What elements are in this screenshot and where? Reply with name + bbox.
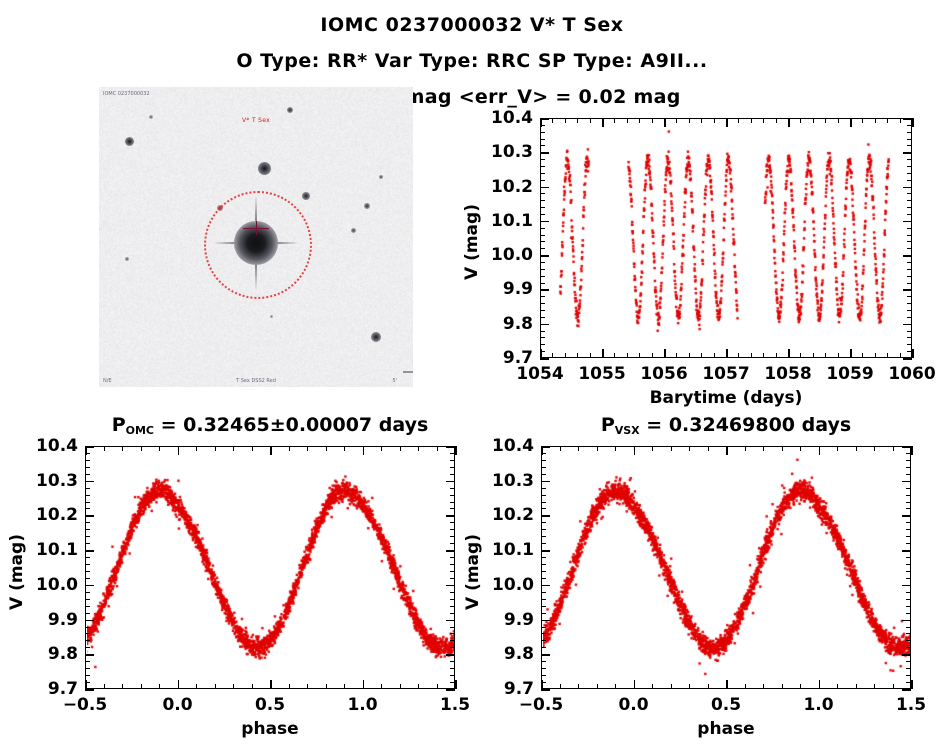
- axis-tick: [455, 680, 457, 689]
- target-label: V* T Sex: [242, 117, 270, 124]
- y-tick-label: 10.2: [23, 505, 78, 525]
- field-star: [351, 228, 356, 233]
- y-tick-label: 10.0: [479, 575, 534, 595]
- x-tick-label: 1.0: [779, 695, 859, 715]
- y-axis-title: V (mag): [7, 534, 27, 610]
- field-star: [302, 192, 310, 200]
- chart-meta-top-left: IOMC 0237000032: [103, 91, 150, 97]
- compass-icon: [399, 355, 413, 381]
- field-star: [125, 137, 134, 146]
- axis-tick: [903, 358, 912, 360]
- period-subscript: OMC: [126, 424, 154, 437]
- x-tick-label: −0.5: [501, 695, 581, 715]
- x-tick-label: 1058: [748, 364, 828, 384]
- period-symbol: P: [112, 414, 126, 436]
- object-type-line: O Type: RR* Var Type: RRC SP Type: A9II.…: [0, 50, 944, 72]
- x-tick-label: 0.5: [230, 695, 310, 715]
- y-tick-label: 9.7: [479, 679, 534, 699]
- x-tick-label: 1056: [624, 364, 704, 384]
- chart-meta-bottom-center: T Sex DSS2 Red: [236, 378, 276, 384]
- axis-tick: [912, 118, 914, 127]
- finding-chart[interactable]: V* T Sex IOMC 0237000032 N/E T Sex DSS2 …: [99, 87, 413, 387]
- phase-vsx-data-points: [543, 448, 910, 688]
- field-star: [364, 203, 370, 209]
- axis-tick: [85, 689, 94, 691]
- y-tick-label: 9.7: [478, 348, 533, 368]
- axis-tick: [541, 689, 550, 691]
- x-tick-label: −0.5: [45, 695, 125, 715]
- y-tick-label: 9.7: [23, 679, 78, 699]
- period-symbol: P: [601, 414, 615, 436]
- x-tick-label: 1.5: [871, 695, 944, 715]
- phase-vsx-plot-box[interactable]: [541, 446, 911, 689]
- y-tick-label: 9.9: [478, 279, 533, 299]
- y-tick-label: 9.8: [479, 644, 534, 664]
- y-tick-label: 10.4: [23, 436, 78, 456]
- x-tick-label: 1054: [500, 364, 580, 384]
- field-star: [270, 315, 273, 318]
- x-tick-label: 1.0: [323, 695, 403, 715]
- axis-tick: [455, 446, 457, 455]
- y-axis-title: V (mag): [463, 534, 483, 610]
- x-tick-label: 0.0: [594, 695, 674, 715]
- period-subscript: VSX: [615, 424, 640, 437]
- x-tick-label: 1060: [872, 364, 944, 384]
- chart-meta-bottom-right: 5': [392, 378, 397, 384]
- field-star: [379, 175, 383, 179]
- y-tick-label: 9.8: [23, 644, 78, 664]
- y-tick-label: 10.0: [23, 575, 78, 595]
- x-axis-title: Barytime (days): [540, 388, 912, 408]
- y-tick-label: 10.3: [23, 471, 78, 491]
- y-tick-label: 10.4: [478, 108, 533, 128]
- field-star: [287, 107, 293, 113]
- x-tick-label: 1055: [562, 364, 642, 384]
- y-tick-label: 10.2: [478, 177, 533, 197]
- y-tick-label: 10.3: [478, 142, 533, 162]
- x-tick-label: 0.0: [138, 695, 218, 715]
- axis-tick: [540, 358, 549, 360]
- axis-tick: [911, 446, 913, 455]
- y-tick-label: 10.4: [479, 436, 534, 456]
- field-star: [258, 162, 271, 175]
- x-axis-title: phase: [541, 719, 911, 739]
- period-value: = 0.32465±0.00007 days: [154, 414, 428, 436]
- lightcurve-plot-box[interactable]: [540, 118, 912, 358]
- x-tick-label: 0.5: [686, 695, 766, 715]
- crosshair-vertical: [256, 221, 257, 235]
- y-tick-label: 9.9: [479, 610, 534, 630]
- chart-meta-bottom-left: N/E: [103, 378, 112, 384]
- y-tick-label: 9.9: [23, 610, 78, 630]
- field-star: [125, 257, 129, 261]
- page-title: IOMC 0237000032 V* T Sex: [0, 14, 944, 36]
- axis-tick: [912, 349, 914, 358]
- y-tick-label: 10.0: [478, 245, 533, 265]
- x-tick-label: 1057: [686, 364, 766, 384]
- y-tick-label: 10.2: [479, 505, 534, 525]
- x-axis-title: phase: [85, 719, 455, 739]
- axis-tick: [446, 689, 455, 691]
- period-value: = 0.32469800 days: [640, 414, 852, 436]
- axis-tick: [902, 689, 911, 691]
- lightcurve-data-points: [542, 120, 911, 357]
- phase-omc-plot-box[interactable]: [85, 446, 455, 689]
- axis-tick: [911, 680, 913, 689]
- y-tick-label: 10.1: [23, 540, 78, 560]
- field-star: [149, 115, 153, 119]
- y-tick-label: 10.3: [479, 471, 534, 491]
- y-tick-label: 9.8: [478, 314, 533, 334]
- y-tick-label: 10.1: [478, 211, 533, 231]
- x-tick-label: 1059: [810, 364, 890, 384]
- phase-omc-title: POMC = 0.32465±0.00007 days: [85, 414, 455, 437]
- y-tick-label: 10.1: [479, 540, 534, 560]
- field-star: [371, 332, 381, 342]
- target-marker-circle: [204, 191, 312, 299]
- phase-omc-data-points: [87, 448, 454, 688]
- x-tick-label: 1.5: [415, 695, 495, 715]
- phase-vsx-title: PVSX = 0.32469800 days: [541, 414, 911, 437]
- y-axis-title: V (mag): [462, 204, 482, 280]
